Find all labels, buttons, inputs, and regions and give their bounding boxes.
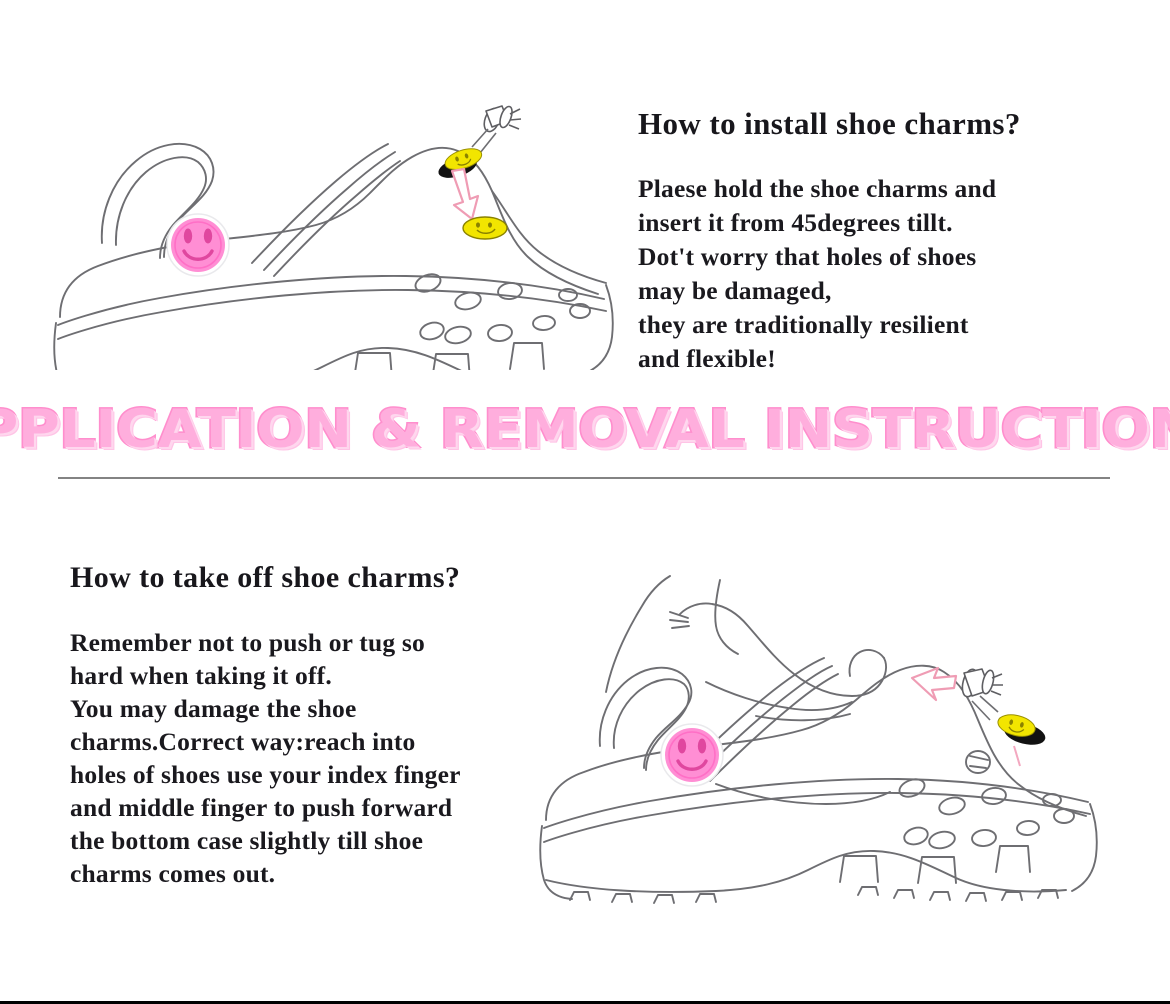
clog-shoe-removal-diagram xyxy=(520,570,1100,920)
removal-body-line: charms comes out. xyxy=(70,857,461,890)
removal-body: Remember not to push or tug so hard when… xyxy=(70,626,461,890)
banner-title: APPLICATION & REMOVAL INSTRUCTIONS xyxy=(0,399,1170,460)
section-divider xyxy=(58,477,1110,479)
removal-body-line: and middle finger to push forward xyxy=(70,791,461,824)
removal-body-line: Remember not to push or tug so xyxy=(70,626,461,659)
install-body-line: Plaese hold the shoe charms and xyxy=(638,172,996,206)
install-body-line: insert it from 45degrees tillt. xyxy=(638,206,996,240)
removal-body-line: hard when taking it off. xyxy=(70,659,461,692)
removal-heading: How to take off shoe charms? xyxy=(70,561,460,595)
instruction-sheet: How to install shoe charms? Plaese hold … xyxy=(0,0,1170,1004)
charm-insert-detail xyxy=(434,105,521,239)
removal-body-line: You may damage the shoe xyxy=(70,692,461,725)
install-body-line: Dot't worry that holes of shoes xyxy=(638,240,996,274)
install-body-line: and flexible! xyxy=(638,342,996,376)
removal-body-line: the bottom case slightly till shoe xyxy=(70,824,461,857)
clog-shoe-install-diagram xyxy=(40,95,620,370)
install-body: Plaese hold the shoe charms and insert i… xyxy=(638,172,996,376)
smiley-charm-yellow-seated xyxy=(463,217,507,239)
install-heading: How to install shoe charms? xyxy=(638,106,1021,142)
install-body-line: may be damaged, xyxy=(638,274,996,308)
removal-body-line: charms.Correct way:reach into xyxy=(70,725,461,758)
banner: APPLICATION & REMOVAL INSTRUCTIONS xyxy=(0,398,1170,460)
removal-body-line: holes of shoes use your index finger xyxy=(70,758,461,791)
smiley-charm-pink-attached xyxy=(167,214,229,276)
smiley-charm-pink-attached xyxy=(661,724,723,786)
install-body-line: they are traditionally resilient xyxy=(638,308,996,342)
